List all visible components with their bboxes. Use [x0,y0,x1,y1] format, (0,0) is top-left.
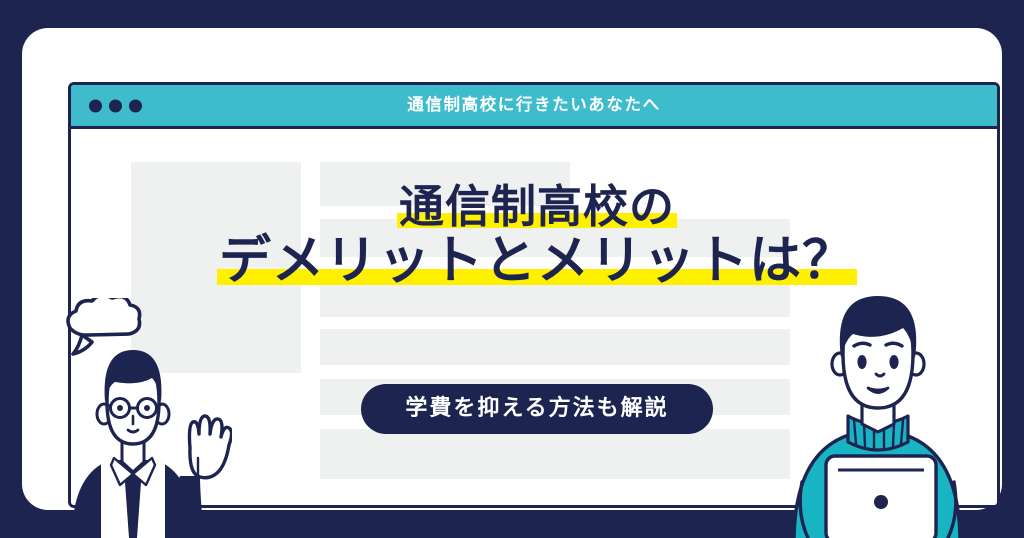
headline-line-2: デメリットとメリットは？ [71,232,997,291]
browser-window-body: 通信制高校の デメリットとメリットは？ 学費を抑える方法も解説 [71,129,997,508]
window-close-dot-icon[interactable] [89,99,102,112]
tuition-tip-pill-button[interactable]: 学費を抑える方法も解説 [361,384,712,434]
window-maximize-dot-icon[interactable] [129,99,142,112]
page-stage: 通信制高校に行きたいあなたへ 通信制高校の デメリットとメ [0,0,1024,538]
pill-button-wrap: 学費を抑える方法も解説 [71,384,997,434]
outer-white-card: 通信制高校に行きたいあなたへ 通信制高校の デメリットとメ [22,28,1002,510]
headline-line-1: 通信制高校の [71,181,997,232]
window-controls[interactable] [89,99,142,112]
skeleton-bar-4 [320,329,790,365]
browser-title-bar: 通信制高校に行きたいあなたへ [71,85,997,129]
window-minimize-dot-icon[interactable] [109,99,122,112]
browser-window: 通信制高校に行きたいあなたへ 通信制高校の デメリットとメ [68,82,1000,508]
browser-title-text: 通信制高校に行きたいあなたへ [71,97,997,114]
skeleton-bar-6 [320,429,790,479]
headline-line-2-text: デメリットとメリットは？ [217,232,857,290]
headline-line-1-text: 通信制高校の [397,181,677,232]
headline-block: 通信制高校の デメリットとメリットは？ [71,181,997,292]
